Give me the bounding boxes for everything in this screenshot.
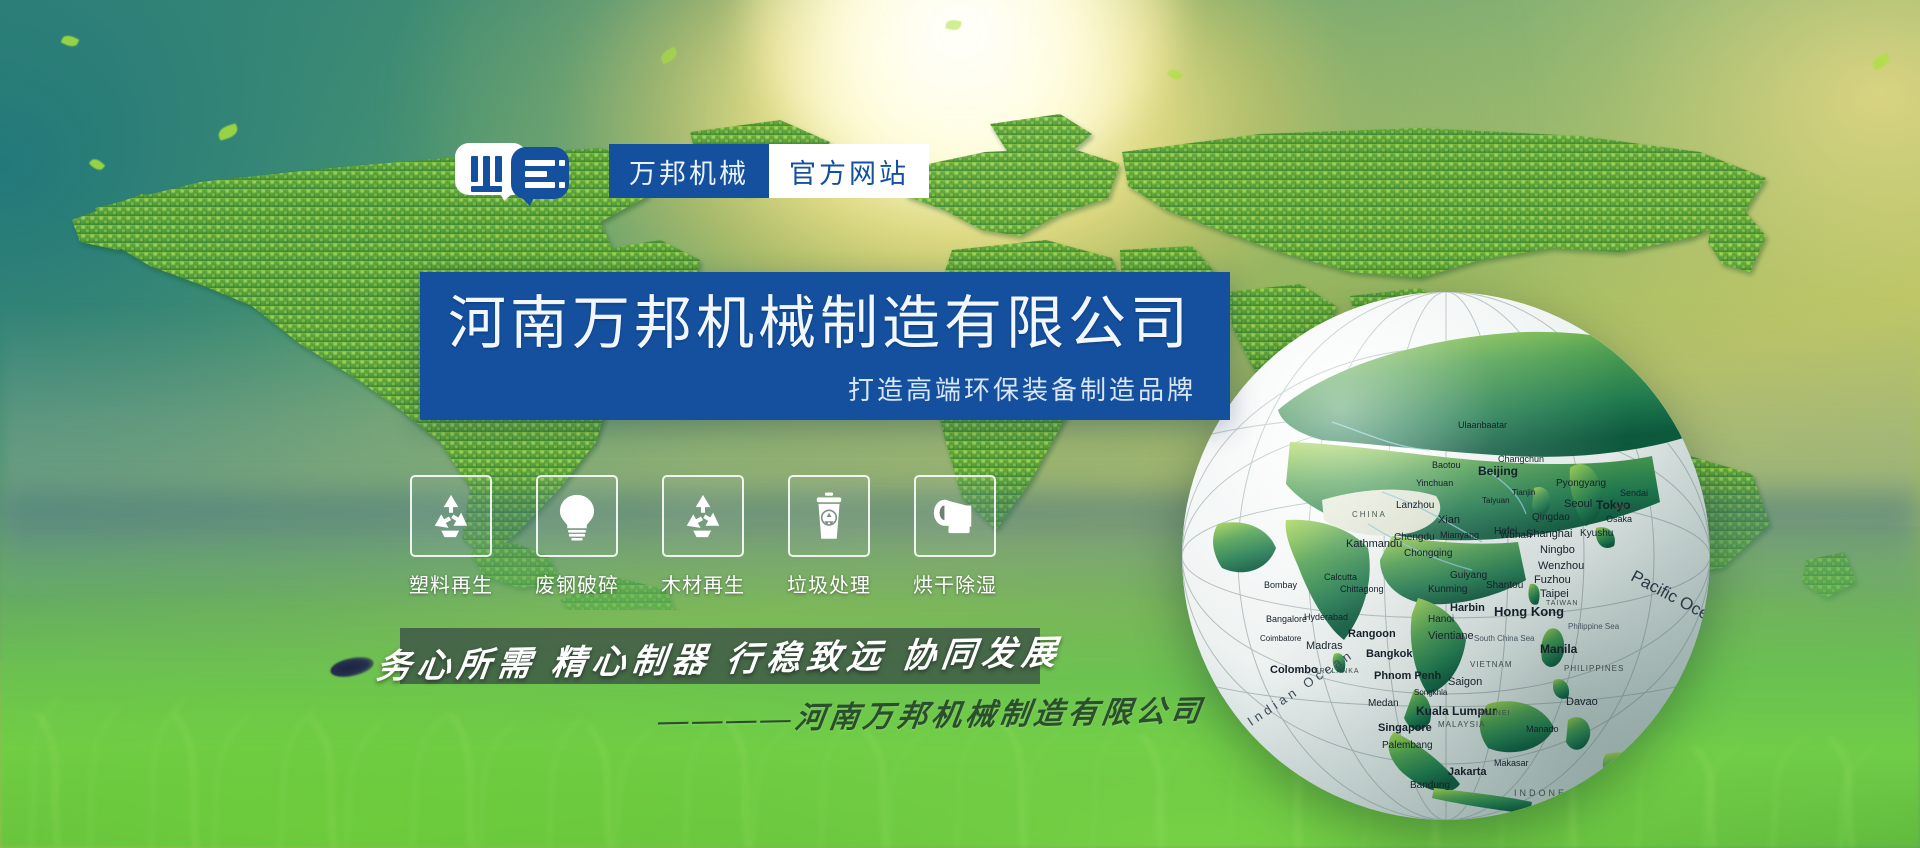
globe-label-taiwan: TAIWAN — [1546, 600, 1578, 607]
globe-label-taiyuan: Taiyuan — [1482, 496, 1510, 505]
page-title: 河南万邦机械制造有限公司 — [448, 292, 1192, 356]
globe-label-south-china-sea: South China Sea — [1474, 634, 1535, 643]
service-item-scrap-steel-crushing[interactable]: 废钢破碎 — [536, 475, 618, 598]
slogan-text: 务心所需 精心制器 行稳致远 协同发展 — [374, 624, 1065, 687]
service-item-plastic-recycling[interactable]: 塑料再生 — [410, 475, 492, 598]
globe-label-songkhla: Songkhla — [1414, 688, 1447, 697]
globe-label-baotou: Baotou — [1432, 460, 1461, 470]
slogan-band: 务心所需 精心制器 行稳致远 协同发展 — [400, 628, 1040, 684]
globe-label-ningbo: Ningbo — [1540, 544, 1575, 556]
globe-label-hefei: Hefei — [1494, 526, 1517, 537]
brand-chip-official-site[interactable]: 官方网站 — [769, 144, 929, 198]
globe-label-kathmandu: Kathmandu — [1346, 538, 1402, 550]
globe-label-bandung: Bandung — [1410, 780, 1450, 791]
globe-label-xian: Xian — [1438, 514, 1460, 526]
globe-label-ulaanbaatar: Ulaanbaatar — [1458, 420, 1507, 430]
globe-label-port-moresby: Port Moresby — [1626, 770, 1680, 780]
globe-label-japan: JAPAN — [1614, 504, 1641, 511]
globe-label-manado: Manado — [1526, 724, 1559, 734]
globe-label-shantou: Shantou — [1486, 580, 1523, 591]
earth-globe: Ulaanbaatar Beijing Baotou Yinchuan Lanz… — [1182, 292, 1710, 820]
globe-label-rangoon: Rangoon — [1348, 628, 1396, 640]
globe-label-shanghai: Shanghai — [1526, 528, 1573, 540]
globe-label-kyushu: Kyushu — [1580, 528, 1613, 539]
globe-label-sri-lanka: SRI LANKA — [1314, 668, 1360, 675]
service-icon-list: 塑料再生 废钢破碎 木材再生 — [410, 475, 996, 598]
globe-label-osaka: Osaka — [1606, 514, 1632, 524]
lightbulb-icon — [536, 475, 618, 557]
globe-label-madras: Madras — [1306, 640, 1343, 652]
globe-label-vietnam: VIETNAM — [1470, 660, 1513, 669]
globe-label-phnom-penh: Phnom Penh — [1374, 670, 1441, 682]
globe-label-medan: Medan — [1368, 698, 1399, 709]
globe-label-kunming: Kunming — [1428, 584, 1467, 595]
globe-label-philippine-sea: Philippine Sea — [1568, 622, 1619, 631]
globe-label-makasar: Makasar — [1494, 758, 1529, 768]
globe-label-beijing: Beijing — [1478, 464, 1518, 478]
globe-label-philippines: PHILIPPINES — [1564, 664, 1624, 673]
globe-label-pyongyang: Pyongyang — [1556, 478, 1606, 489]
globe-label-taipei: Taipei — [1540, 588, 1569, 600]
brand-chip-company[interactable]: 万邦机械 — [609, 144, 769, 198]
service-label: 烘干除湿 — [913, 569, 997, 598]
globe-label-hanoi: Hanoi — [1428, 614, 1454, 625]
globe-label-malaysia: MALAYSIA — [1438, 720, 1485, 729]
globe-label-davao: Davao — [1566, 696, 1598, 708]
globe-label-qingdao: Qingdao — [1532, 512, 1570, 523]
globe-label-lanzhou: Lanzhou — [1396, 500, 1434, 511]
brand-header: 万邦机械 官方网站 — [455, 143, 929, 199]
globe-label-bangalore: Bangalore — [1266, 614, 1307, 624]
globe-label-manila: Manila — [1540, 642, 1577, 656]
globe-label-chittagong: Chittagong — [1340, 584, 1384, 594]
service-label: 塑料再生 — [409, 569, 493, 598]
service-label: 垃圾处理 — [787, 569, 871, 598]
globe-label-chongqing: Chongqing — [1404, 548, 1452, 559]
globe-label-vientiane: Vientiane — [1428, 630, 1474, 642]
service-item-wood-recycling[interactable]: 木材再生 — [662, 475, 744, 598]
title-panel: 河南万邦机械制造有限公司 打造高端环保装备制造品牌 — [420, 272, 1230, 420]
service-item-waste-treatment[interactable]: 垃圾处理 — [788, 475, 870, 598]
globe-label-palembang: Palembang — [1382, 740, 1433, 751]
globe-label-saigon: Saigon — [1448, 676, 1482, 688]
globe-label-bangkok: Bangkok — [1366, 648, 1412, 660]
globe-label-seoul: Seoul — [1564, 498, 1592, 510]
globe-label-brunei: BRUNEI — [1478, 710, 1510, 717]
globe-label-tianjin: Tianjin — [1512, 488, 1535, 497]
globe-label-hyderabad: Hyderabad — [1304, 612, 1348, 622]
globe-label-sendai: Sendai — [1620, 488, 1648, 498]
hero-banner: Ulaanbaatar Beijing Baotou Yinchuan Lanz… — [0, 0, 1920, 848]
service-item-drying-dehumidification[interactable]: 烘干除湿 — [914, 475, 996, 598]
globe-label-harbin: Harbin — [1450, 602, 1485, 614]
trash-bin-icon — [788, 475, 870, 557]
globe-label-singapore: Singapore — [1378, 722, 1432, 734]
service-label: 木材再生 — [661, 569, 745, 598]
page-subtitle: 打造高端环保装备制造品牌 — [848, 370, 1196, 407]
recycle-icon — [410, 475, 492, 557]
globe-label-jakarta: Jakarta — [1448, 766, 1487, 778]
wanbang-wb-logo-icon[interactable] — [455, 143, 573, 199]
globe-label-guiyang: Guiyang — [1450, 570, 1487, 581]
recycle-icon — [662, 475, 744, 557]
globe-label-fuzhou: Fuzhou — [1534, 574, 1571, 586]
globe-label-changchun: Changchun — [1498, 454, 1544, 464]
globe-label-calcutta: Calcutta — [1324, 572, 1357, 582]
globe-label-bombay: Bombay — [1264, 580, 1297, 590]
globe-label-mianyang: Mianyang — [1440, 530, 1479, 540]
blower-icon — [914, 475, 996, 557]
globe-label-wenzhou: Wenzhou — [1538, 560, 1584, 572]
globe-label-indonesia: INDONESIA — [1514, 788, 1591, 798]
globe-label-yinchuan: Yinchuan — [1416, 478, 1453, 488]
globe-label-china: CHINA — [1352, 510, 1387, 519]
service-label: 废钢破碎 — [535, 569, 619, 598]
globe-label-coimbatore: Coimbatore — [1260, 634, 1301, 643]
